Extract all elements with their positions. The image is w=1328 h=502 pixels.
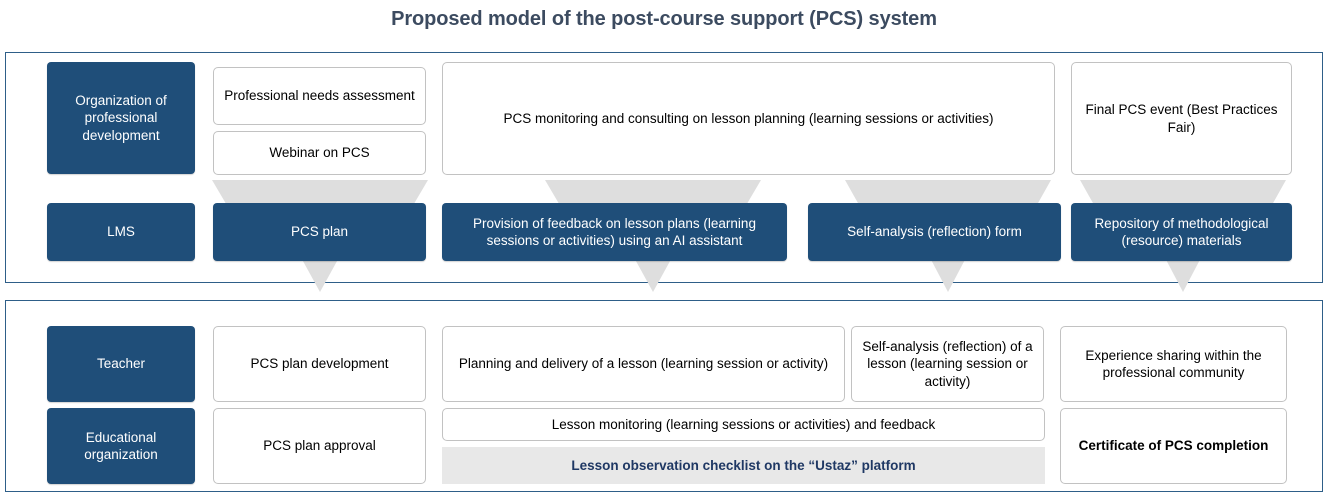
- actor-organization-label: Organization of professional development: [54, 92, 188, 144]
- stage-final-pcs-event-label: Final PCS event (Best Practices Fair): [1079, 101, 1284, 136]
- actor-educational-organization[interactable]: Educational organization: [47, 408, 195, 484]
- stage-pcs-monitoring-consulting-label: PCS monitoring and consulting on lesson …: [503, 110, 993, 127]
- step-self-analysis-lesson[interactable]: Self-analysis (reflection) of a lesson (…: [851, 326, 1044, 402]
- tool-repository-materials-label: Repository of methodological (resource) …: [1078, 215, 1285, 250]
- tool-lms-label: LMS: [107, 223, 135, 240]
- stage-webinar-on-pcs-label: Webinar on PCS: [269, 144, 369, 161]
- page-title: Proposed model of the post-course suppor…: [0, 8, 1328, 31]
- step-lesson-monitoring-feedback-label: Lesson monitoring (learning sessions or …: [552, 416, 935, 433]
- step-certificate-pcs-completion-label: Certificate of PCS completion: [1079, 437, 1269, 454]
- step-self-analysis-lesson-label: Self-analysis (reflection) of a lesson (…: [859, 338, 1036, 390]
- band-lesson-observation-checklist[interactable]: Lesson observation checklist on the “Ust…: [442, 447, 1045, 484]
- tool-pcs-plan[interactable]: PCS plan: [213, 203, 426, 261]
- tool-pcs-plan-label: PCS plan: [291, 223, 348, 240]
- step-planning-delivery-lesson[interactable]: Planning and delivery of a lesson (learn…: [442, 326, 845, 402]
- actor-educational-organization-label: Educational organization: [54, 429, 188, 464]
- step-experience-sharing[interactable]: Experience sharing within the profession…: [1060, 326, 1287, 402]
- tool-repository-materials[interactable]: Repository of methodological (resource) …: [1071, 203, 1292, 261]
- step-certificate-pcs-completion[interactable]: Certificate of PCS completion: [1060, 408, 1287, 484]
- tool-self-analysis-form[interactable]: Self-analysis (reflection) form: [808, 203, 1061, 261]
- step-experience-sharing-label: Experience sharing within the profession…: [1068, 347, 1279, 382]
- step-pcs-plan-development-label: PCS plan development: [250, 355, 388, 372]
- stage-professional-needs-assessment[interactable]: Professional needs assessment: [213, 67, 426, 125]
- tool-ai-feedback-label: Provision of feedback on lesson plans (l…: [449, 215, 780, 250]
- tool-lms[interactable]: LMS: [47, 203, 195, 261]
- actor-teacher[interactable]: Teacher: [47, 326, 195, 402]
- step-pcs-plan-development[interactable]: PCS plan development: [213, 326, 426, 402]
- tool-ai-feedback[interactable]: Provision of feedback on lesson plans (l…: [442, 203, 787, 261]
- actor-organization-professional-development[interactable]: Organization of professional development: [47, 62, 195, 174]
- step-planning-delivery-lesson-label: Planning and delivery of a lesson (learn…: [459, 355, 828, 372]
- step-pcs-plan-approval[interactable]: PCS plan approval: [213, 408, 426, 484]
- band-lesson-observation-checklist-label: Lesson observation checklist on the “Ust…: [571, 457, 915, 474]
- stage-pcs-monitoring-consulting[interactable]: PCS monitoring and consulting on lesson …: [442, 62, 1055, 175]
- stage-final-pcs-event[interactable]: Final PCS event (Best Practices Fair): [1071, 62, 1292, 175]
- step-pcs-plan-approval-label: PCS plan approval: [263, 437, 376, 454]
- stage-professional-needs-assessment-label: Professional needs assessment: [224, 87, 415, 104]
- tool-self-analysis-form-label: Self-analysis (reflection) form: [847, 223, 1022, 240]
- step-lesson-monitoring-feedback[interactable]: Lesson monitoring (learning sessions or …: [442, 408, 1045, 441]
- stage-webinar-on-pcs[interactable]: Webinar on PCS: [213, 131, 426, 175]
- actor-teacher-label: Teacher: [97, 355, 145, 372]
